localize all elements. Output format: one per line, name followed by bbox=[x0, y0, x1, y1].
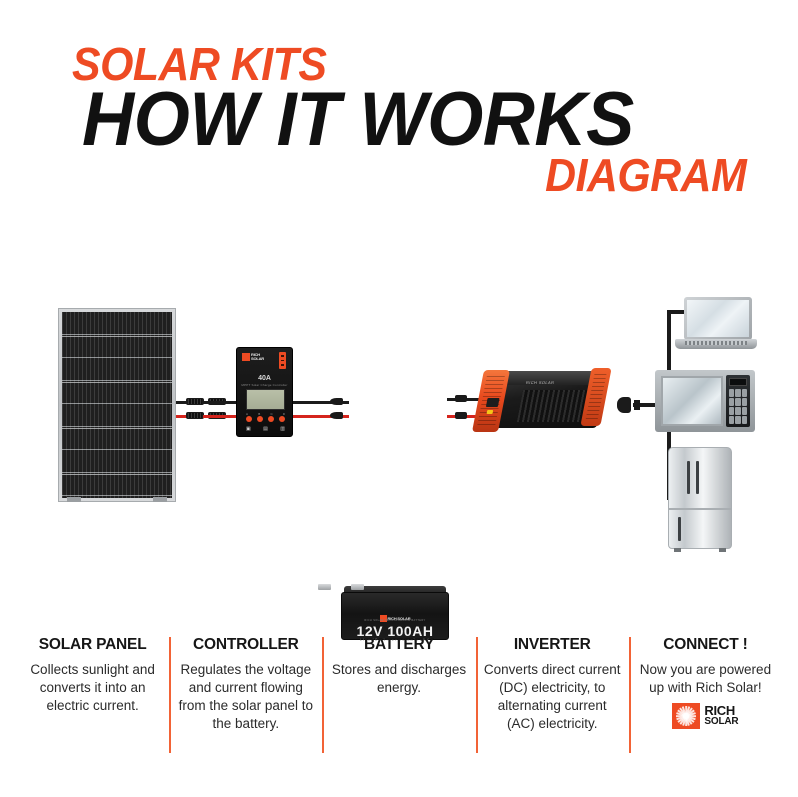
sunburst-icon bbox=[672, 703, 700, 729]
header-subtitle: DIAGRAM bbox=[545, 148, 746, 202]
card-solar-panel: SOLAR PANEL Collects sunlight and conver… bbox=[16, 620, 169, 734]
solar-panel[interactable] bbox=[58, 308, 176, 502]
card-title: CONTROLLER bbox=[177, 636, 314, 654]
mc4-connector-icon bbox=[186, 412, 204, 419]
ring-terminal-icon bbox=[455, 395, 467, 402]
ring-terminal-icon bbox=[330, 412, 343, 419]
controller-subtitle-label: MPPT Solar Charge Controller bbox=[237, 383, 292, 387]
refrigerator-leg bbox=[674, 548, 681, 552]
solar-panel-glass bbox=[62, 312, 172, 498]
card-battery: BATTERY Stores and discharges energy. bbox=[322, 620, 475, 734]
microwave-door bbox=[661, 376, 723, 426]
card-title: INVERTER bbox=[484, 636, 621, 654]
card-description: Converts direct current (DC) electricity… bbox=[484, 661, 621, 733]
footer-cards: SOLAR PANEL Collects sunlight and conver… bbox=[0, 620, 798, 734]
inverter[interactable]: RICH SOLAR bbox=[476, 368, 608, 438]
card-description: Stores and discharges energy. bbox=[330, 661, 467, 697]
refrigerator-handle bbox=[687, 461, 690, 494]
wire-controller-in-negative bbox=[203, 401, 239, 404]
solar-panel-foot bbox=[153, 497, 167, 502]
battery-terminal-positive bbox=[318, 584, 331, 590]
battery-terminal-negative bbox=[351, 584, 364, 590]
card-title: SOLAR PANEL bbox=[24, 636, 161, 654]
inverter-status-led bbox=[486, 410, 493, 414]
refrigerator-upper-door bbox=[668, 447, 732, 509]
controller-port-icons: ▣▤▥ bbox=[246, 426, 285, 432]
refrigerator-leg bbox=[719, 548, 726, 552]
solar-panel-cells bbox=[62, 312, 172, 498]
microwave-keypad[interactable] bbox=[729, 389, 747, 424]
refrigerator[interactable] bbox=[668, 447, 732, 552]
card-connect: CONNECT ! Now you are powered up with Ri… bbox=[629, 620, 782, 734]
inverter-brand-label: RICH SOLAR bbox=[526, 380, 555, 385]
logo-word-solar: SOLAR bbox=[704, 716, 738, 727]
card-title: CONNECT ! bbox=[637, 636, 774, 654]
refrigerator-handle bbox=[696, 461, 699, 494]
rich-solar-logo: RICH SOLAR bbox=[672, 703, 738, 729]
mc4-connector-icon bbox=[186, 398, 204, 405]
plug-icon bbox=[613, 397, 635, 413]
inverter-ac-socket[interactable] bbox=[486, 398, 500, 407]
controller-led-indicators bbox=[279, 352, 286, 369]
microwave[interactable] bbox=[655, 370, 755, 432]
card-title: BATTERY bbox=[330, 636, 467, 654]
ring-terminal-icon bbox=[455, 412, 467, 419]
diagram-stage: RICH SOLAR 40A MPPT Solar Charge Control… bbox=[0, 215, 798, 615]
ring-terminal-icon bbox=[330, 398, 343, 405]
controller-brand-logo: RICH SOLAR bbox=[242, 353, 262, 362]
footer: SOLAR PANEL Collects sunlight and conver… bbox=[0, 620, 798, 797]
microwave-display bbox=[729, 378, 747, 386]
logo-word-rich: RICH bbox=[704, 705, 738, 716]
solar-panel-foot bbox=[67, 497, 81, 502]
card-controller: CONTROLLER Regulates the voltage and cur… bbox=[169, 620, 322, 734]
controller-buttons[interactable] bbox=[246, 416, 285, 422]
refrigerator-handle bbox=[678, 517, 681, 541]
controller-lcd-screen bbox=[246, 389, 285, 410]
microwave-control-panel[interactable] bbox=[726, 375, 750, 427]
card-inverter: INVERTER Converts direct current (DC) el… bbox=[476, 620, 629, 734]
card-description: Collects sunlight and converts it into a… bbox=[24, 661, 161, 715]
card-description: Regulates the voltage and current flowin… bbox=[177, 661, 314, 733]
charge-controller[interactable]: RICH SOLAR 40A MPPT Solar Charge Control… bbox=[236, 347, 293, 437]
card-description: Now you are powered up with Rich Solar! bbox=[637, 661, 774, 697]
laptop-lid bbox=[684, 297, 752, 340]
rich-solar-wordmark: RICH SOLAR bbox=[704, 705, 738, 727]
controller-model-label: 40A bbox=[237, 375, 292, 382]
controller-brand-label: RICH SOLAR bbox=[251, 353, 264, 361]
laptop[interactable] bbox=[675, 297, 757, 359]
wire-controller-in-positive bbox=[203, 415, 239, 418]
laptop-screen bbox=[687, 300, 749, 337]
laptop-keyboard bbox=[685, 341, 747, 345]
header: SOLAR KITS HOW IT WORKS DIAGRAM bbox=[0, 0, 798, 215]
